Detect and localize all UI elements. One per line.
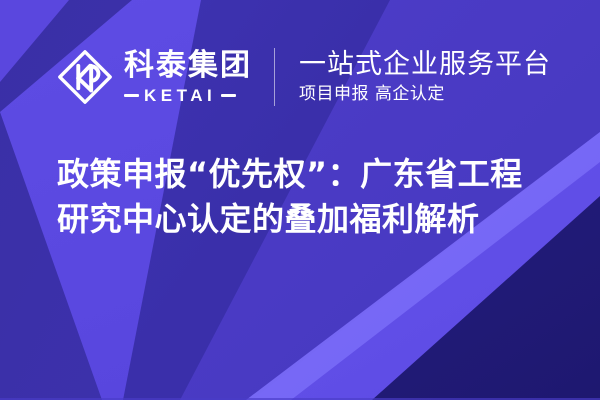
logo-company-name-en: KETAI	[144, 87, 216, 104]
tagline-primary: 一站式企业服务平台	[299, 50, 551, 79]
page-title-line-2: 研究中心认定的叠加福利解析	[57, 197, 562, 242]
logo-wordmark: 科泰集团 KETAI	[124, 51, 252, 104]
logo-company-name-en-row: KETAI	[124, 87, 252, 104]
page-title-line-1: 政策申报“优先权”：广东省工程	[57, 152, 562, 197]
tagline-secondary: 项目申报 高企认定	[299, 86, 551, 104]
logo-rule-left-icon	[124, 94, 139, 97]
header-tagline: 一站式企业服务平台 项目申报 高企认定	[299, 50, 551, 104]
ketai-kp-diamond-logo-icon	[57, 49, 113, 105]
logo-company-name-cn: 科泰集团	[124, 51, 252, 81]
header-vertical-divider	[274, 48, 275, 106]
page-title: 政策申报“优先权”：广东省工程 研究中心认定的叠加福利解析	[57, 152, 562, 242]
banner-header: 科泰集团 KETAI 一站式企业服务平台 项目申报 高企认定	[0, 36, 600, 118]
promo-banner: 科泰集团 KETAI 一站式企业服务平台 项目申报 高企认定 政策申报“优先权”…	[0, 0, 600, 400]
logo-rule-right-icon	[221, 94, 236, 97]
